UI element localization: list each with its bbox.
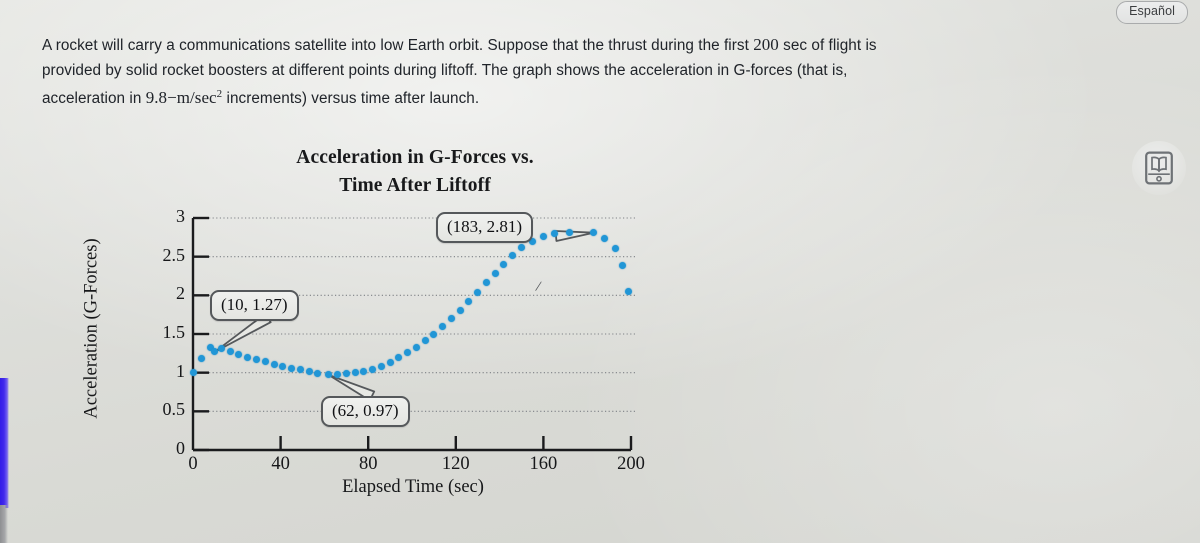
y-tick-label: 1 xyxy=(141,361,185,382)
data-point xyxy=(297,366,304,373)
x-tick-label: 0 xyxy=(169,454,217,475)
data-point xyxy=(378,363,385,370)
callout-10-1-27: (10, 1.27) xyxy=(210,290,299,321)
y-tick-label: 2.5 xyxy=(141,245,185,266)
x-tick-label: 40 xyxy=(257,454,305,475)
y-tick-label: 2 xyxy=(141,283,185,304)
y-tick-label: 3 xyxy=(141,206,185,227)
x-tick-label: 160 xyxy=(519,454,567,475)
data-point xyxy=(448,315,455,322)
x-tick-label: 80 xyxy=(344,454,392,475)
data-point xyxy=(518,244,525,251)
data-point xyxy=(227,348,234,355)
data-point xyxy=(253,356,260,363)
data-point xyxy=(288,365,295,372)
data-point xyxy=(551,230,558,237)
data-point xyxy=(509,252,516,259)
data-point xyxy=(387,359,394,366)
data-point xyxy=(601,235,608,242)
x-tick-label: 200 xyxy=(607,454,655,475)
data-point xyxy=(457,307,464,314)
data-point xyxy=(430,331,437,338)
y-tick-label: 1.5 xyxy=(141,322,185,343)
callout-leader xyxy=(556,231,594,241)
acceleration-figure: Acceleration in G-Forces vs. Time After … xyxy=(0,0,1200,543)
data-point xyxy=(271,361,278,368)
data-point xyxy=(343,370,350,377)
data-point xyxy=(492,270,499,277)
callout-183-2-81: (183, 2.81) xyxy=(436,212,533,243)
x-tick-label: 120 xyxy=(432,454,480,475)
data-point xyxy=(190,369,197,376)
data-point xyxy=(360,368,367,375)
callout-62-0-97: (62, 0.97) xyxy=(321,396,410,427)
data-point xyxy=(474,289,481,296)
data-point xyxy=(306,368,313,375)
data-point xyxy=(540,233,547,240)
data-point xyxy=(439,323,446,330)
data-point xyxy=(334,371,341,378)
data-point xyxy=(413,344,420,351)
axes xyxy=(193,218,631,450)
data-point xyxy=(352,369,359,376)
data-point xyxy=(244,354,251,361)
y-tick-label: 0.5 xyxy=(141,399,185,420)
